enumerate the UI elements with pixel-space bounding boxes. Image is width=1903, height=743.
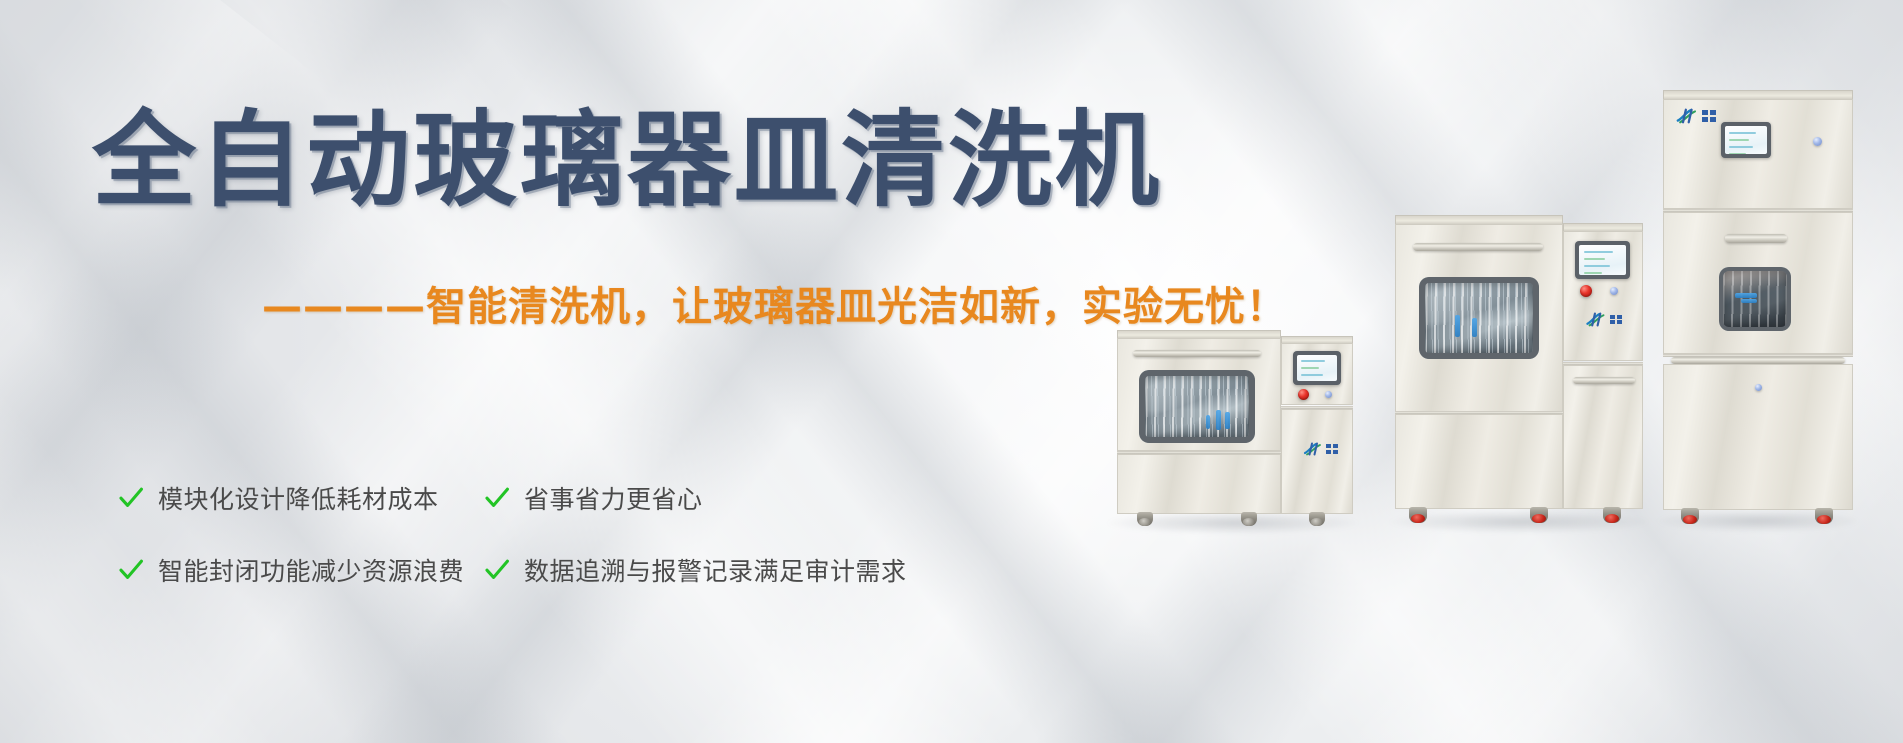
list-item: 省事省力更省心 (484, 480, 904, 516)
feature-list: 模块化设计降低耗材成本 省事省力更省心 智能封闭功能减少资源浪费 数据追溯与报警… (118, 462, 1018, 606)
page-title: 全自动玻璃器皿清洗机 (92, 105, 1162, 215)
brand-wordmark-icon (1610, 315, 1622, 325)
brand-logo (1303, 442, 1338, 456)
emergency-stop-button[interactable] (1298, 389, 1309, 400)
promo-banner: 全自动玻璃器皿清洗机 ————智能清洗机，让玻璃器皿光洁如新，实验无忧！ 模块化… (0, 0, 1903, 743)
caster-wheel (1603, 507, 1621, 523)
caster-wheel (1530, 507, 1548, 523)
touchscreen-hmi[interactable] (1721, 122, 1771, 158)
check-icon (118, 557, 144, 583)
caster-wheel (1409, 507, 1427, 523)
caster-wheel (1681, 508, 1699, 524)
brand-h-icon (1303, 442, 1323, 456)
touchscreen-hmi[interactable] (1293, 351, 1341, 385)
product-image-undercounter-glassware-washer (1113, 330, 1353, 520)
touchscreen-hmi[interactable] (1575, 241, 1630, 279)
brand-h-icon (1585, 312, 1607, 327)
product-image-freestanding-glassware-washer (1395, 215, 1643, 520)
check-icon (118, 485, 144, 511)
check-icon (484, 557, 510, 583)
brand-logo (1585, 312, 1622, 327)
caster-wheel (1815, 508, 1833, 524)
brand-h-icon (1675, 108, 1699, 124)
chamber-window (1419, 277, 1539, 359)
caster-wheel (1241, 512, 1257, 526)
product-image-tall-column-glassware-washer (1663, 90, 1853, 520)
chamber-window (1139, 370, 1255, 443)
indicator-light (1325, 391, 1332, 398)
door-latch-icon (1755, 384, 1762, 391)
brand-wordmark-icon (1702, 110, 1716, 122)
list-item-label: 智能封闭功能减少资源浪费 (158, 552, 464, 588)
list-item: 智能封闭功能减少资源浪费 (118, 552, 484, 588)
list-item-label: 模块化设计降低耗材成本 (158, 480, 439, 516)
brand-wordmark-icon (1326, 444, 1338, 454)
emergency-stop-button[interactable] (1580, 285, 1592, 297)
check-icon (484, 485, 510, 511)
banner-copy: 全自动玻璃器皿清洗机 ————智能清洗机，让玻璃器皿光洁如新，实验无忧！ 模块化… (0, 0, 1120, 743)
chamber-window (1719, 267, 1791, 331)
indicator-light (1610, 287, 1618, 295)
indicator-light (1813, 137, 1822, 146)
list-item-label: 数据追溯与报警记录满足审计需求 (524, 552, 907, 588)
list-item: 数据追溯与报警记录满足审计需求 (484, 552, 904, 588)
caster-wheel (1137, 512, 1153, 526)
caster-wheel (1309, 512, 1325, 526)
product-lineup (1095, 0, 1903, 743)
list-item-label: 省事省力更省心 (524, 480, 703, 516)
list-item: 模块化设计降低耗材成本 (118, 480, 484, 516)
brand-logo (1675, 108, 1716, 124)
